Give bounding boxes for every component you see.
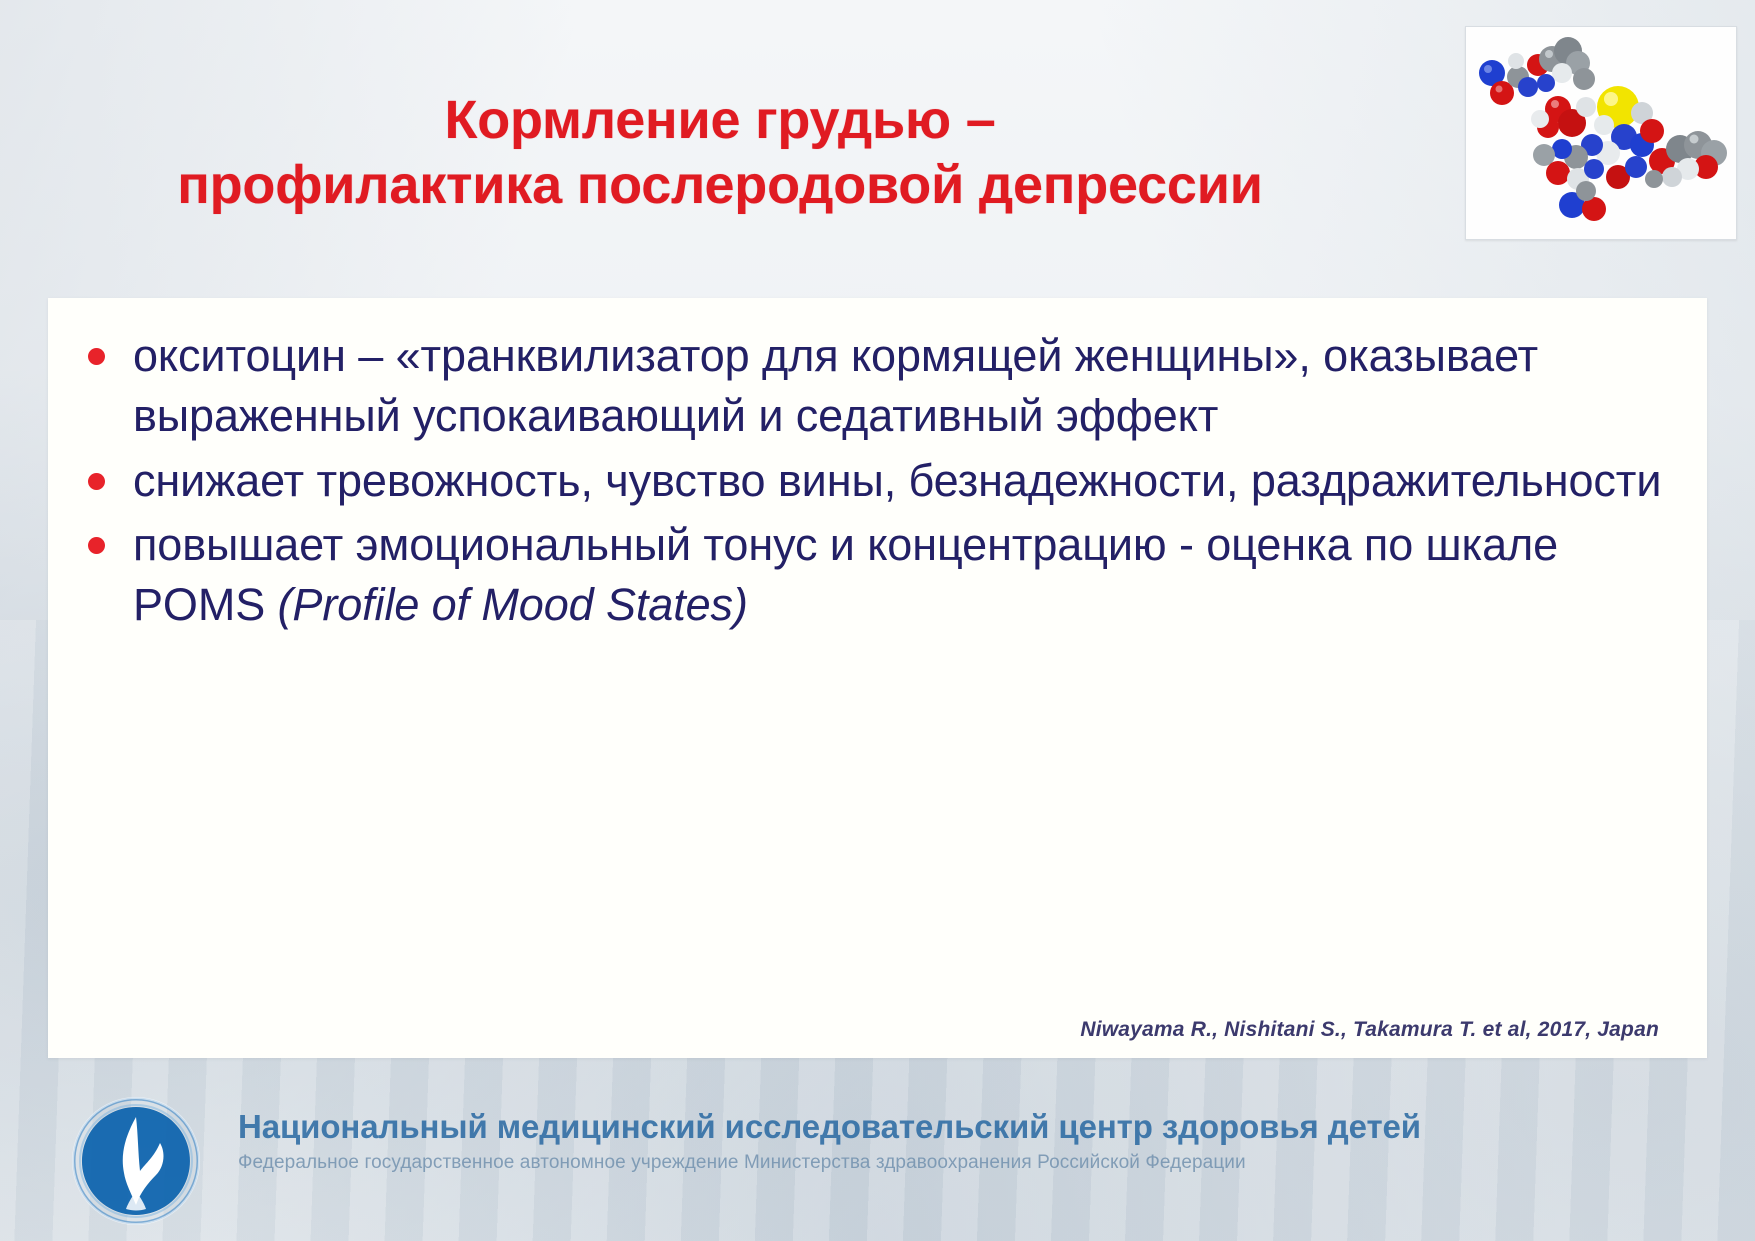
list-item: окситоцин – «транквилизатор для кормящей… — [66, 326, 1686, 447]
citation-reference: Niwayama R., Nishitani S., Takamura T. e… — [1080, 1018, 1659, 1042]
bullet-list: окситоцин – «транквилизатор для кормящей… — [66, 326, 1686, 639]
organization-text: Национальный медицинский исследовательск… — [238, 1109, 1698, 1175]
bullet-dot-icon — [88, 348, 105, 365]
molecule-svg — [1466, 27, 1736, 239]
presentation-slide: Кормление грудью – профилактика послерод… — [0, 0, 1755, 1241]
bullet-text-2: снижает тревожность, чувство вины, безна… — [133, 451, 1686, 511]
organization-name: Национальный медицинский исследовательск… — [238, 1109, 1698, 1146]
organization-subtitle: Федеральное государственное автономное у… — [238, 1152, 1698, 1175]
oxytocin-molecule-image — [1465, 26, 1737, 240]
title-line-2: профилактика послеродовой депрессии — [0, 153, 1440, 218]
organization-logo — [62, 1087, 210, 1235]
logo-svg — [62, 1087, 210, 1235]
list-item: повышает эмоциональный тонус и концентра… — [66, 515, 1686, 636]
slide-title: Кормление грудью – профилактика послерод… — [0, 88, 1440, 218]
title-line-1: Кормление грудью – — [0, 88, 1440, 153]
content-panel: окситоцин – «транквилизатор для кормящей… — [48, 298, 1707, 1058]
bullet-dot-icon — [88, 473, 105, 490]
list-item: снижает тревожность, чувство вины, безна… — [66, 451, 1686, 511]
bullet-text-3-italic: (Profile of Mood States) — [278, 579, 748, 630]
bullet-dot-icon — [88, 537, 105, 554]
bullet-text-3: повышает эмоциональный тонус и концентра… — [133, 515, 1686, 636]
slide-footer: Национальный медицинский исследовательск… — [0, 1069, 1755, 1241]
bullet-text-1: окситоцин – «транквилизатор для кормящей… — [133, 326, 1686, 447]
